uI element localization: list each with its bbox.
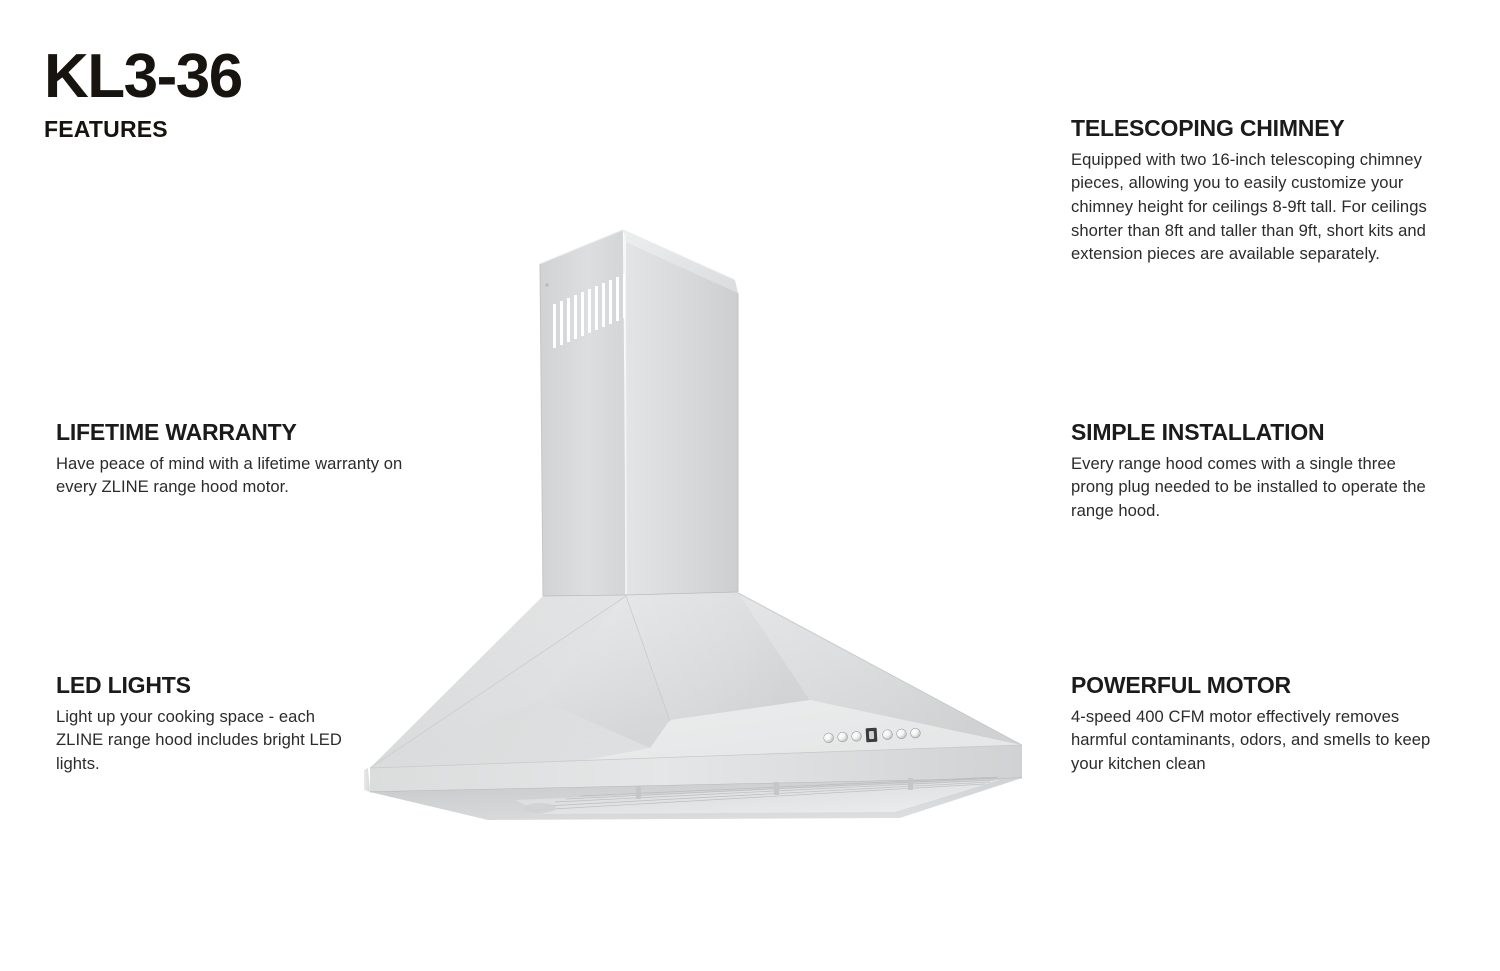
feature-powerful-motor: POWERFUL MOTOR 4-speed 400 CFM motor eff… [1071, 673, 1441, 776]
feature-title-led-lights: LED LIGHTS [56, 673, 346, 698]
features-page: KL3-36 FEATURES TELESCOPING CHIMNEY Equi… [0, 0, 1500, 971]
control-button-power[interactable] [911, 728, 920, 737]
range-hood-illustration [340, 200, 1060, 820]
speed-display [866, 728, 878, 743]
chimney-right-face [626, 242, 738, 595]
feature-title-simple-installation: SIMPLE INSTALLATION [1071, 420, 1441, 445]
feature-body-telescoping-chimney: Equipped with two 16-inch telescoping ch… [1071, 148, 1449, 266]
feature-body-led-lights: Light up your cooking space - each ZLINE… [56, 705, 346, 776]
page-subtitle: FEATURES [44, 118, 464, 141]
feature-title-powerful-motor: POWERFUL MOTOR [1071, 673, 1441, 698]
feature-simple-installation: SIMPLE INSTALLATION Every range hood com… [1071, 420, 1441, 523]
led-light-lens [524, 803, 556, 813]
feature-body-powerful-motor: 4-speed 400 CFM motor effectively remove… [1071, 705, 1441, 776]
chimney-screw [545, 283, 549, 287]
feature-telescoping-chimney: TELESCOPING CHIMNEY Equipped with two 16… [1071, 116, 1449, 266]
control-button-speed-2[interactable] [852, 731, 861, 740]
control-button-speed-3[interactable] [882, 729, 891, 738]
control-button-speed-1[interactable] [838, 732, 847, 741]
feature-title-telescoping-chimney: TELESCOPING CHIMNEY [1071, 116, 1449, 141]
page-title: KL3-36 [44, 46, 464, 108]
feature-body-simple-installation: Every range hood comes with a single thr… [1071, 452, 1441, 523]
canopy-body [370, 592, 1022, 768]
page-title-block: KL3-36 FEATURES [44, 46, 464, 141]
control-button-light[interactable] [824, 733, 833, 742]
control-button-speed-4[interactable] [897, 729, 906, 738]
feature-led-lights: LED LIGHTS Light up your cooking space -… [56, 673, 346, 776]
range-hood-svg [340, 200, 1060, 820]
chimney-left-face [540, 230, 626, 596]
hood-bottom-band-left-cap [364, 768, 370, 792]
